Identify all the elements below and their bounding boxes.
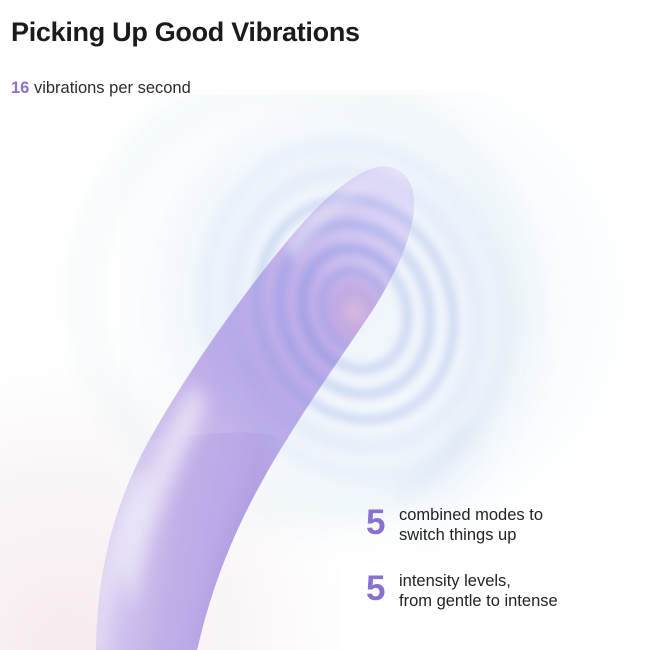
spec-intensity-number: 5 xyxy=(366,569,399,609)
spec-list: 5 combined modes to switch things up 5 i… xyxy=(366,503,646,611)
spec-item-modes: 5 combined modes to switch things up xyxy=(366,503,646,545)
product-feature-graphic: Picking Up Good Vibrations 16 vibrations… xyxy=(0,0,650,650)
spec-modes-number: 5 xyxy=(366,503,399,543)
vibration-rate-text: vibrations per second xyxy=(29,79,190,97)
spec-item-intensity: 5 intensity levels, from gentle to inten… xyxy=(366,569,646,611)
spec-modes-label: combined modes to switch things up xyxy=(399,503,646,545)
vibration-rate-number: 16 xyxy=(11,79,29,97)
vibration-rate-label: 16 vibrations per second xyxy=(11,78,191,98)
spec-intensity-label: intensity levels, from gentle to intense xyxy=(399,569,646,611)
page-title: Picking Up Good Vibrations xyxy=(11,16,360,48)
